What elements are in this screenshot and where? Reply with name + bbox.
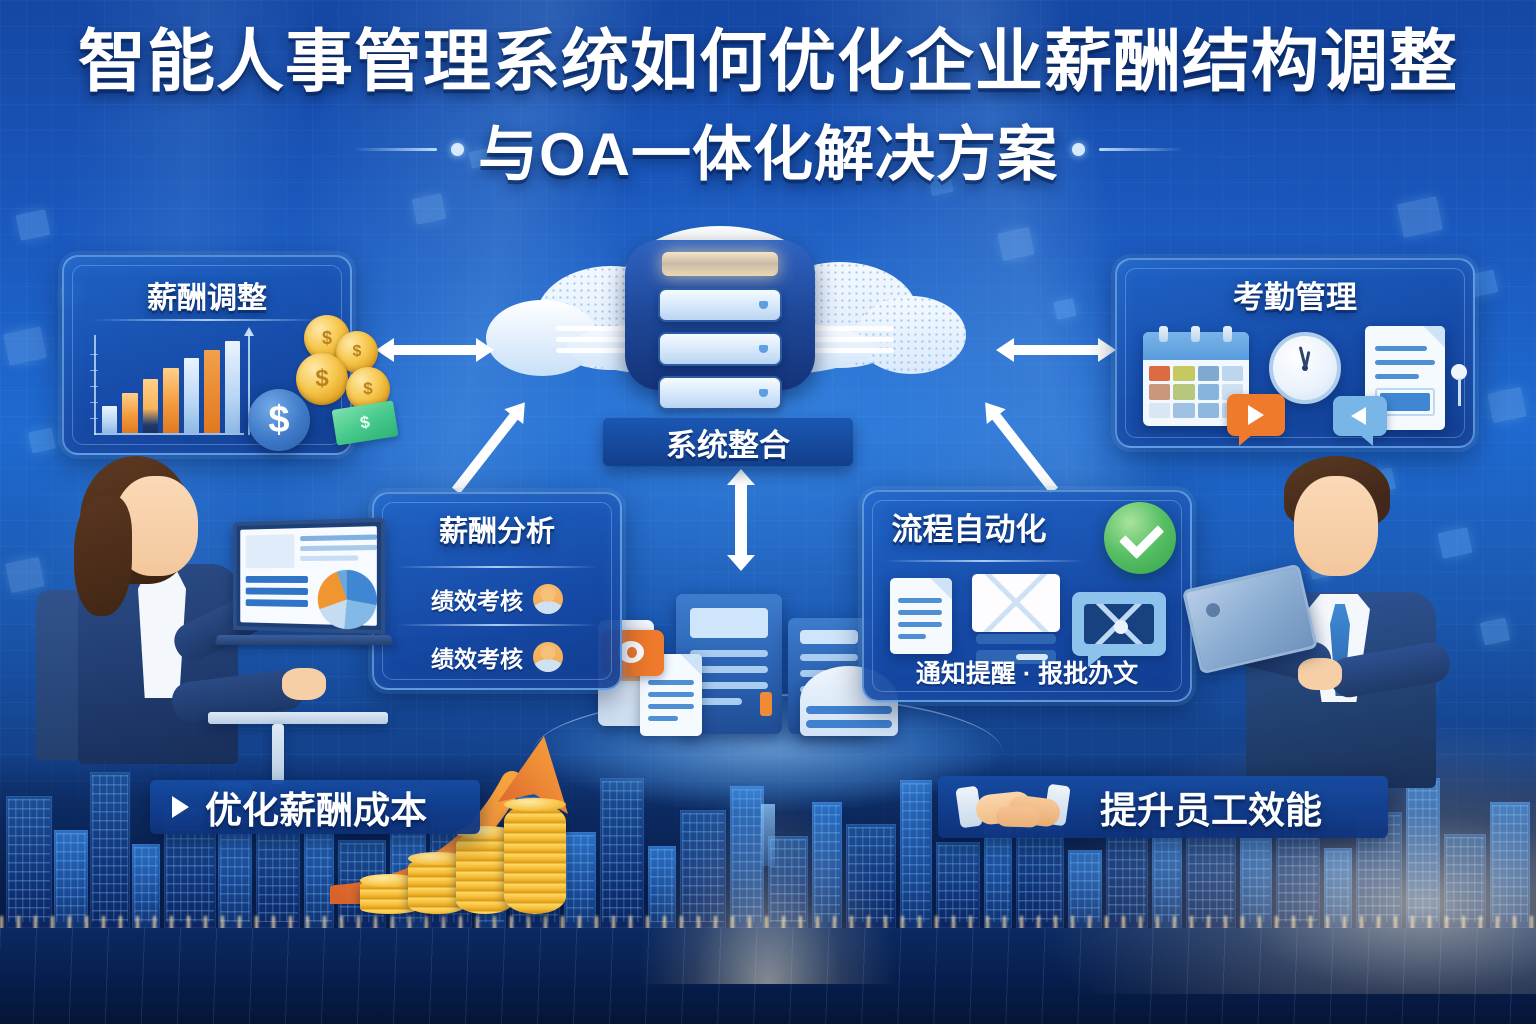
mail-shadow-bar-1 <box>976 634 1056 644</box>
analysis-row-2-label: 绩效考核 <box>431 640 523 674</box>
center-label-system-integration: 系统整合 <box>603 418 853 466</box>
subtitle-dot-left <box>451 143 464 156</box>
chat-bubble-mail-flow[interactable] <box>1072 592 1166 656</box>
platform-pillar <box>761 804 775 866</box>
card-attendance-title: 考勤管理 <box>1117 272 1473 317</box>
subtitle-rule-left <box>353 148 437 151</box>
cloud-server-graphic <box>470 222 970 402</box>
laptop-keyboard <box>215 635 394 645</box>
laptop-screen <box>233 518 385 635</box>
banner-right-label: 提升员工效能 <box>1100 780 1322 834</box>
analysis-row-1[interactable]: 绩效考核 <box>390 582 604 616</box>
analysis-row-1-label: 绩效考核 <box>431 582 523 616</box>
chat-bubble-orange-attendance[interactable] <box>1227 394 1285 436</box>
user-avatar-icon-1 <box>533 584 563 614</box>
page-subtitle: 与OA一体化解决方案 <box>478 106 1058 193</box>
card-analysis-title: 薪酬分析 <box>374 508 620 550</box>
salary-bars <box>102 337 240 433</box>
card-process-automation[interactable]: 流程自动化 通知提醒 · 报批办文 <box>862 490 1192 702</box>
card-flow-subtitle: 通知提醒 · 报批办文 <box>864 654 1190 690</box>
handshake-icon <box>956 781 1086 833</box>
check-circle-icon <box>1104 502 1176 574</box>
card-flow-title: 流程自动化 <box>806 504 1132 549</box>
reply-icon <box>1351 407 1366 425</box>
card-analysis-divider-1 <box>396 566 598 568</box>
analysis-row-2[interactable]: 绩效考核 <box>390 640 604 674</box>
doc-pin-stem <box>1458 378 1461 406</box>
card-salary-title: 薪酬调整 <box>64 273 350 317</box>
banner-optimize-cost[interactable]: 优化薪酬成本 <box>150 780 480 834</box>
mail-icon-flow <box>972 574 1060 632</box>
subtitle-dot-right <box>1072 143 1085 156</box>
server-slot-2 <box>658 332 782 366</box>
arrow-salary-to-cloud <box>376 338 494 362</box>
person-businesswoman <box>30 440 410 770</box>
page-title: 智能人事管理系统如何优化企业薪酬结构调整 <box>0 22 1536 102</box>
infographic-canvas: 智能人事管理系统如何优化企业薪酬结构调整 与OA一体化解决方案 <box>0 0 1536 1024</box>
document-icon-flow <box>890 578 952 654</box>
card-salary-adjustment[interactable]: 薪酬调整 $ $ <box>62 255 352 455</box>
card-attendance-management[interactable]: 考勤管理 <box>1115 258 1475 448</box>
subtitle-rule-right <box>1099 148 1183 151</box>
center-label-text: 系统整合 <box>666 420 790 465</box>
user-avatar-icon-2 <box>533 642 563 672</box>
person-businessman <box>1180 444 1510 784</box>
play-triangle-icon <box>172 796 189 818</box>
salary-bar-chart <box>94 335 244 435</box>
card-analysis-divider-2 <box>396 624 598 626</box>
arrow-cloud-to-platform <box>735 484 747 556</box>
clock-icon <box>1269 332 1341 404</box>
server-status-light <box>662 252 778 276</box>
server-slot-3 <box>658 376 782 410</box>
server-icon <box>625 240 815 390</box>
server-slot-1 <box>658 288 782 322</box>
banner-improve-efficiency[interactable]: 提升员工效能 <box>938 776 1388 838</box>
coin-glyph-3: $ <box>296 353 348 405</box>
banner-left-label: 优化薪酬成本 <box>205 780 427 834</box>
chat-bubble-blue-attendance[interactable] <box>1333 396 1387 436</box>
play-icon <box>1248 405 1264 425</box>
title-block: 智能人事管理系统如何优化企业薪酬结构调整 与OA一体化解决方案 <box>0 22 1536 193</box>
arrow-cloud-to-attendance <box>996 338 1116 362</box>
subtitle-row: 与OA一体化解决方案 <box>0 106 1536 193</box>
card-flow-divider <box>884 560 1084 562</box>
card-salary-divider <box>92 319 322 321</box>
laptop-pie-chart <box>318 570 377 630</box>
